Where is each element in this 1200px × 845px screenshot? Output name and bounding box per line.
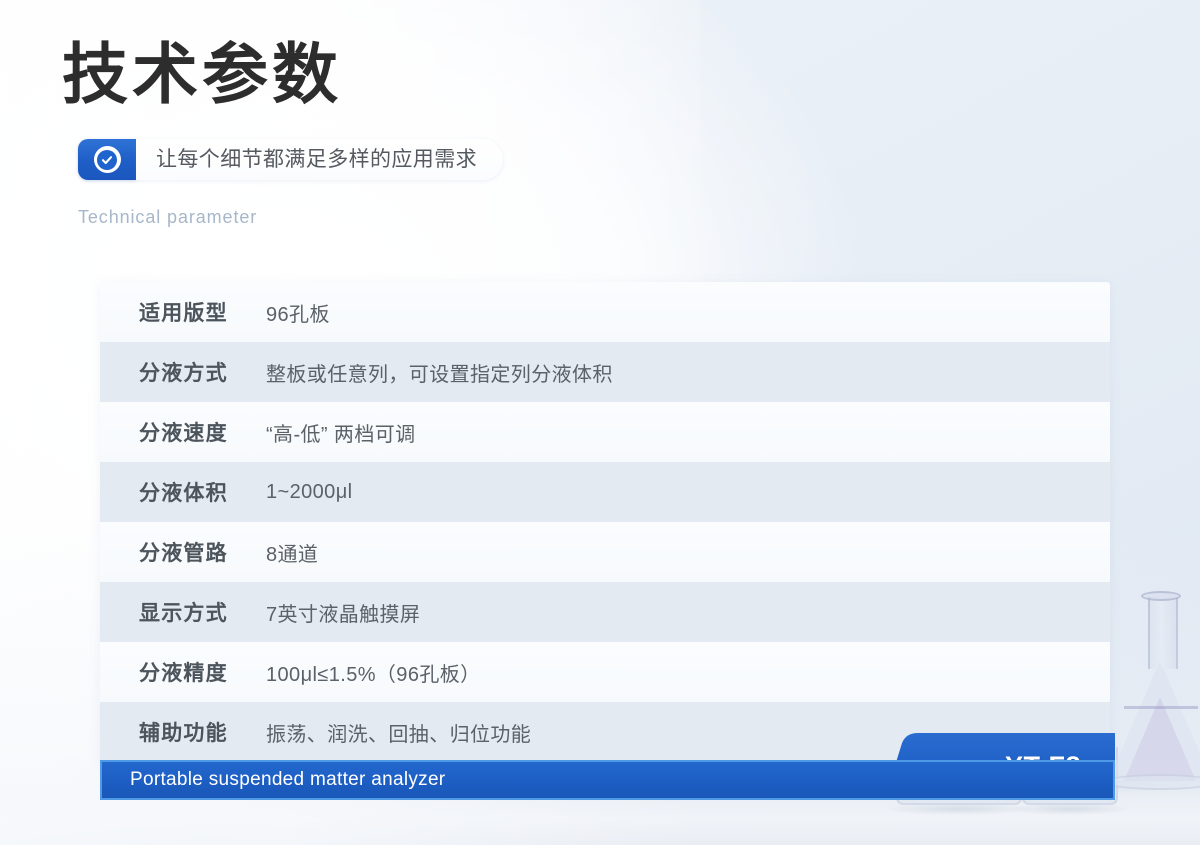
spec-value: 96孔板 xyxy=(266,298,330,327)
spec-label: 适用版型 xyxy=(139,297,266,327)
table-row: 分液速度 “高-低” 两档可调 xyxy=(100,402,1110,462)
spec-label: 分液速度 xyxy=(139,417,266,447)
page-header: 技术参数 xyxy=(62,36,342,114)
footer-band: Portable suspended matter analyzer xyxy=(100,760,1115,800)
table-row: 分液管路 8通道 xyxy=(100,522,1110,582)
spec-label: 辅助功能 xyxy=(139,717,266,747)
spec-label: 分液管路 xyxy=(139,537,266,567)
spec-value: “高-低” 两档可调 xyxy=(266,418,416,447)
subtitle-text: 让每个细节都满足多样的应用需求 xyxy=(156,149,477,170)
spec-label: 显示方式 xyxy=(139,597,266,627)
flask-secondary-lip xyxy=(1141,591,1181,601)
product-spec-page: 技术参数 让每个细节都满足多样的应用需求 Technical parameter… xyxy=(0,0,1200,845)
table-row: 分液方式 整板或任意列，可设置指定列分液体积 xyxy=(100,342,1110,402)
spec-value: 振荡、润洗、回抽、归位功能 xyxy=(266,718,531,747)
table-row: 分液精度 100μl≤1.5%（96孔板） xyxy=(100,642,1110,702)
eyebrow-text: Technical parameter xyxy=(78,207,257,228)
table-row: 显示方式 7英寸液晶触摸屏 xyxy=(100,582,1110,642)
spec-label: 分液体积 xyxy=(139,477,266,507)
subtitle-pill: 让每个细节都满足多样的应用需求 xyxy=(136,139,503,180)
table-row: 适用版型 96孔板 xyxy=(100,282,1110,342)
page-title: 技术参数 xyxy=(62,36,342,114)
spec-value: 8通道 xyxy=(266,538,318,567)
spec-table: 适用版型 96孔板 分液方式 整板或任意列，可设置指定列分液体积 分液速度 “高… xyxy=(100,282,1110,762)
spec-label: 分液精度 xyxy=(139,657,266,687)
footer-caption: Portable suspended matter analyzer xyxy=(102,769,445,791)
table-row: 分液体积 1~2000μl xyxy=(100,462,1110,522)
check-circle-icon xyxy=(94,146,121,173)
subtitle-banner: 让每个细节都满足多样的应用需求 xyxy=(78,139,503,180)
spec-value: 1~2000μl xyxy=(266,481,352,504)
spec-label: 分液方式 xyxy=(139,357,266,387)
spec-value: 100μl≤1.5%（96孔板） xyxy=(266,658,481,687)
flask-secondary-base xyxy=(1104,774,1200,790)
spec-value: 整板或任意列，可设置指定列分液体积 xyxy=(266,358,613,387)
flask-secondary-neck xyxy=(1148,597,1178,669)
check-icon xyxy=(97,150,117,170)
spec-value: 7英寸液晶触摸屏 xyxy=(266,598,420,627)
flask-secondary-liquid xyxy=(1124,697,1196,781)
check-badge xyxy=(78,139,136,180)
flask-secondary-level-line xyxy=(1124,706,1198,709)
